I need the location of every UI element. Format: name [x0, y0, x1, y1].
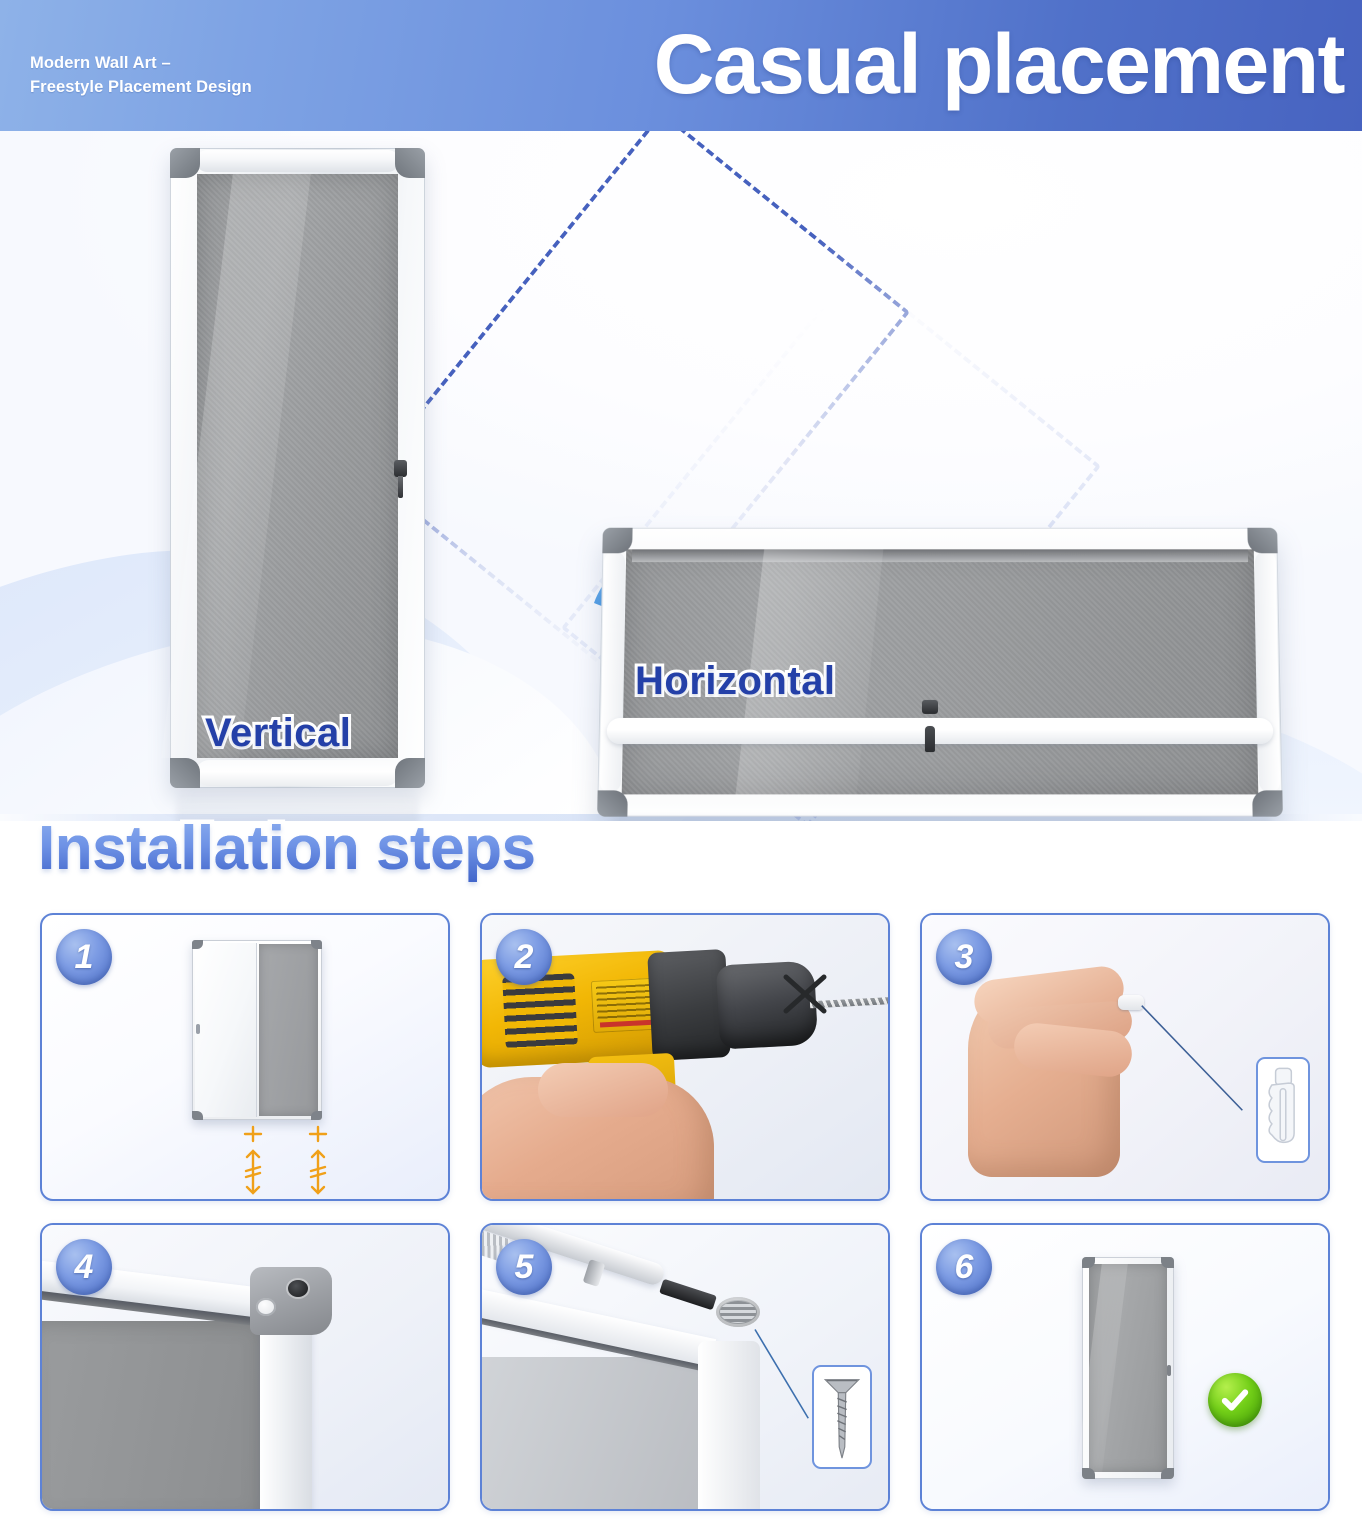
- frame-corner-top-right: [1247, 528, 1277, 554]
- frame-corner-top-left: [170, 148, 200, 178]
- wall-anchor-callout: [1256, 1057, 1310, 1163]
- step-badge-4: 4: [56, 1239, 112, 1295]
- step-row-bottom: 4: [40, 1223, 1330, 1511]
- frame-corner-top-right: [1161, 1257, 1174, 1268]
- display-case-icon: [1082, 1257, 1174, 1479]
- frame-side-rail: [260, 1317, 312, 1511]
- screw-callout: [812, 1365, 872, 1469]
- step-panel-2[interactable]: 2: [480, 913, 890, 1201]
- frame-corner-bottom-left: [1082, 1468, 1095, 1479]
- lock-icon: [1167, 1365, 1171, 1376]
- frame-corner-bottom-right: [1161, 1468, 1174, 1479]
- frame-corner-top-right: [395, 148, 425, 178]
- step-panel-6[interactable]: 6: [920, 1223, 1330, 1511]
- wall-anchor-icon: [1258, 1059, 1308, 1161]
- horizontal-top-edge: [632, 549, 1248, 562]
- step-panel-1[interactable]: 1: [40, 913, 450, 1201]
- case-felt-pane: [40, 1321, 264, 1511]
- lock-with-key-icon: [922, 700, 938, 714]
- check-glyph: [1218, 1383, 1252, 1417]
- vertical-orientation-label: Vertical: [205, 711, 351, 756]
- step-badge-6: 6: [936, 1239, 992, 1295]
- step-badge-2: 2: [496, 929, 552, 985]
- header-subtitle: Modern Wall Art – Freestyle Placement De…: [30, 52, 252, 100]
- dimension-arrow-icon: [238, 1125, 268, 1195]
- step-row-top: 1 2: [40, 913, 1330, 1201]
- mounting-hole-icon: [256, 1298, 276, 1316]
- frame-corner-top-right: [311, 940, 322, 949]
- step-panel-3[interactable]: 3: [920, 913, 1330, 1201]
- step-badge-3: 3: [936, 929, 992, 985]
- dimension-arrow-icon: [303, 1125, 333, 1195]
- frame-corner-bottom-left: [192, 1111, 203, 1120]
- case-felt-pane: [259, 944, 318, 1116]
- drill-mark-icon: [778, 967, 832, 1021]
- step-panel-4[interactable]: 4: [40, 1223, 450, 1511]
- screw-icon: [814, 1367, 870, 1467]
- horizontal-case-reflection: [612, 817, 1272, 821]
- drill-vents: [502, 973, 578, 1049]
- hand-icon: [480, 1077, 714, 1201]
- lock-with-key-icon: [394, 460, 407, 477]
- horizontal-orientation-label: Horizontal: [635, 659, 836, 704]
- vertical-bottom-rail: [196, 760, 399, 786]
- vertical-top-rail: [196, 150, 399, 172]
- horizontal-bottom-rail: [607, 718, 1274, 744]
- frame-corner-bottom-left: [597, 790, 628, 816]
- installation-title: Installation steps: [38, 813, 535, 884]
- step-badge-1: 1: [56, 929, 112, 985]
- vertical-display-case: [170, 148, 425, 788]
- mounting-hole-icon: [288, 1280, 308, 1297]
- green-check-icon: [1208, 1373, 1262, 1427]
- step-panel-5[interactable]: 5: [480, 1223, 890, 1511]
- display-case-front-icon: [192, 940, 322, 1120]
- page-header: Modern Wall Art – Freestyle Placement De…: [0, 0, 1362, 131]
- case-door-knob: [196, 1024, 200, 1034]
- frame-corner-bottom-right: [1252, 790, 1283, 816]
- frame-corner-bottom-right: [395, 758, 425, 788]
- hero-showcase: Vertical Horizontal: [0, 131, 1362, 821]
- page-title: Casual placement: [654, 4, 1344, 124]
- horizontal-left-rail: [600, 551, 626, 792]
- frame-corner-bottom-right: [311, 1111, 322, 1120]
- installation-steps-grid: 1 2: [40, 913, 1330, 1533]
- frame-corner-bottom-left: [170, 758, 200, 788]
- case-glass-door: [195, 943, 257, 1117]
- step-badge-5: 5: [496, 1239, 552, 1295]
